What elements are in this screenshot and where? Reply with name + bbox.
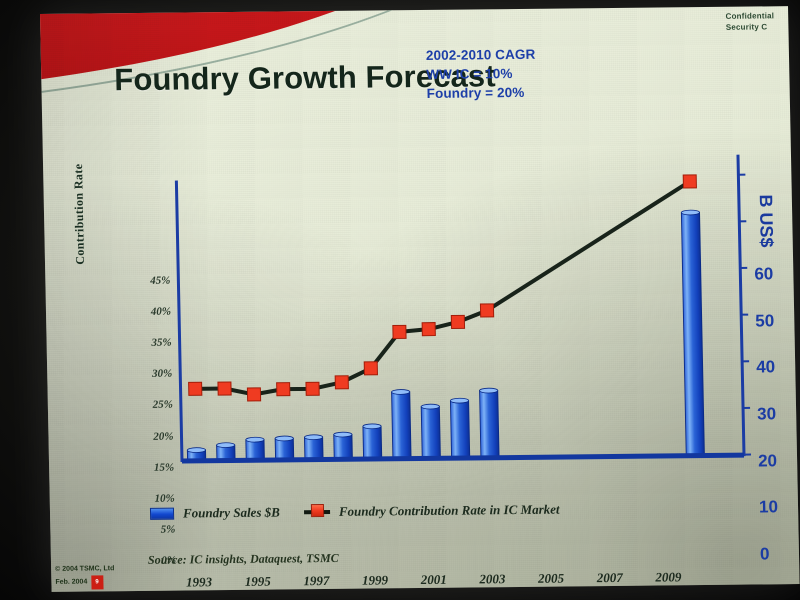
cagr-annotation: 2002-2010 CAGR WW IC = 10% Foundry = 20% (426, 45, 537, 103)
line-marker (683, 175, 696, 188)
bar (392, 392, 412, 458)
y-tick-right: 20 (758, 451, 777, 471)
slide-footer: © 2004 TSMC, Ltd Feb. 2004 9 (55, 563, 115, 590)
projector-photo: Confidential Security C Foundry Growth F… (0, 0, 800, 600)
y-tick-left: 5% (161, 523, 176, 535)
bar (421, 406, 440, 458)
y-tick-left: 25% (153, 399, 173, 411)
y-tick-left: 45% (150, 275, 170, 287)
y-tick-left: 30% (152, 368, 172, 380)
cagr-line-3: Foundry = 20% (426, 83, 536, 103)
x-tick: 2007 (597, 570, 623, 586)
bar (246, 440, 265, 460)
legend-item-line: Foundry Contribution Rate in IC Market (304, 502, 560, 521)
x-tick: 2003 (479, 571, 505, 587)
y-tick-right: 60 (754, 264, 773, 284)
cagr-line-1: 2002-2010 CAGR (426, 45, 536, 65)
chart-legend: Foundry Sales $B Foundry Contribution Ra… (150, 502, 560, 522)
line-marker (393, 325, 406, 338)
bar-cap (304, 435, 322, 440)
footer-copyright: © 2004 TSMC, Ltd (55, 563, 114, 576)
y-tick-right: 40 (756, 358, 775, 378)
y-tick-left: 15% (154, 461, 174, 473)
x-tick: 1997 (303, 573, 329, 589)
legend-bar-swatch-icon (150, 508, 174, 520)
line-marker (277, 383, 290, 396)
y-tick-right: 30 (757, 404, 776, 424)
bar-cap (217, 443, 235, 448)
bar-cap (450, 398, 468, 403)
line-marker (480, 304, 493, 317)
bar (334, 434, 353, 458)
line-marker (451, 315, 464, 328)
line-marker (335, 376, 348, 389)
legend-line-label: Foundry Contribution Rate in IC Market (339, 502, 560, 520)
line-marker (364, 362, 377, 375)
bar-cap (421, 404, 439, 409)
bar-cap (334, 432, 352, 437)
line-marker (189, 382, 202, 395)
contribution-line (191, 181, 694, 395)
cagr-line-2: WW IC = 10% (426, 64, 536, 84)
bar (681, 212, 704, 455)
bar-cap (480, 388, 498, 393)
y-tick-left: 40% (151, 306, 171, 318)
x-tick: 2001 (421, 572, 447, 588)
source-note: Source: IC insights, Dataquest, TSMC (148, 551, 339, 568)
x-tick: 1993 (186, 574, 212, 590)
y-tick-left: 10% (154, 492, 174, 504)
footer-badge: 9 (91, 575, 103, 589)
bar (363, 426, 382, 458)
legend-bar-label: Foundry Sales $B (183, 504, 280, 521)
footer-date: Feb. 2004 (55, 577, 87, 589)
line-marker (306, 382, 319, 395)
confidential-line-2: Security C (726, 21, 775, 33)
line-marker (247, 388, 260, 401)
y-tick-left: 20% (153, 430, 173, 442)
bar (275, 438, 294, 459)
x-tick: 1999 (362, 572, 388, 588)
line-marker (218, 382, 231, 395)
y-tick-left: 35% (151, 337, 171, 349)
bar-cap (681, 210, 699, 215)
bar-cap (275, 436, 293, 441)
bar-cap (363, 424, 381, 429)
confidential-notice: Confidential Security C (725, 10, 774, 33)
bar (480, 390, 500, 457)
line-marker (422, 323, 435, 336)
bar-cap (187, 448, 205, 453)
x-tick: 1995 (245, 574, 271, 590)
presentation-slide: Confidential Security C Foundry Growth F… (40, 6, 800, 592)
chart-svg (76, 106, 774, 513)
footer-date-row: Feb. 2004 9 (55, 575, 115, 590)
y-tick-right: 0 (760, 544, 770, 564)
y-tick-right: 50 (755, 311, 774, 331)
foundry-growth-chart: 0%5%10%15%20%25%30%35%40%45%010203040506… (76, 106, 774, 513)
bar-cap (392, 389, 410, 394)
y-tick-right: 10 (759, 498, 778, 518)
bar (304, 437, 323, 459)
bar-cap (246, 437, 264, 442)
legend-item-bar: Foundry Sales $B (150, 504, 280, 521)
x-tick: 2005 (538, 571, 564, 587)
bar (450, 401, 469, 458)
legend-marker-swatch-icon (304, 510, 330, 514)
confidential-line-1: Confidential (725, 10, 774, 22)
x-tick: 2009 (655, 569, 681, 585)
